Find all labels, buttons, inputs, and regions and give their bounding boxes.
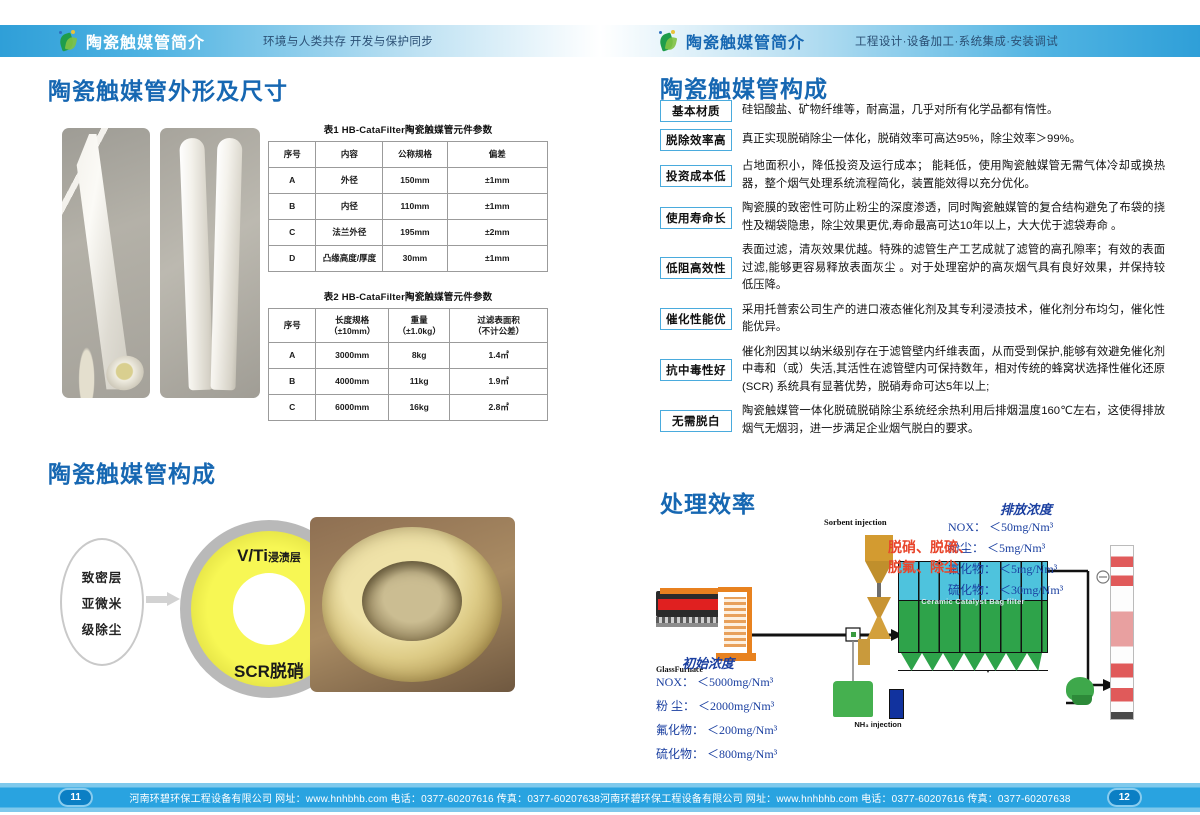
table2-th-3-main: 过滤表面积 [452, 315, 545, 326]
table-row: B 4000mm 11kg 1.9㎡ [269, 369, 548, 395]
feature-item: 投资成本低 占地面积小，降低投资及运行成本； 能耗低，使用陶瓷触媒管无需气体冷却… [660, 158, 1165, 193]
feature-text: 表面过滤，清灰效果优越。特殊的滤管生产工艺成就了滤管的高孔隙率；有效的表面过滤,… [742, 242, 1165, 295]
feature-item: 基本材质 硅铝酸盐、矿物纤维等，耐高温，几乎对所有化学品都有惰性。 [660, 100, 1165, 122]
table2-th-1-sub: （±10mm） [318, 326, 386, 337]
feature-badge: 催化性能优 [660, 308, 732, 330]
table2-r0-c0: A [269, 343, 316, 369]
table1-r2-c1: 法兰外径 [316, 220, 383, 246]
company-leaf-logo-icon [55, 29, 79, 53]
feature-list: 基本材质 硅铝酸盐、矿物纤维等，耐高温，几乎对所有化学品都有惰性。 脱除效率高 … [660, 100, 1165, 445]
structure-ring-diagram: 致密层 亚微米 级除尘 V/Ti浸渍层 SCR脱硝 [60, 520, 310, 700]
footer-bar: 11 河南环碧环保工程设备有限公司 网址：www.hnhbhb.com 电话：0… [0, 780, 1200, 815]
feature-badge: 脱除效率高 [660, 129, 732, 151]
glass-furnace-icon [656, 587, 752, 661]
table1-th-2: 公称规格 [383, 142, 447, 168]
removal-note-line2: 脱氟、除尘 [888, 559, 958, 579]
table-row: C 法兰外径 195mm ±2mm [269, 220, 548, 246]
process-flow-diagram: GlassFurnace Sorbent injection Ceramic C… [648, 525, 1193, 760]
outlet-concentration-title: 排放浓度 [1000, 499, 1052, 518]
table2-th-3: 过滤表面积 （不计公差） [450, 309, 548, 343]
feature-item: 催化性能优 采用托普索公司生产的进口液态催化剂及其专利浸渍技术，催化剂分布均匀，… [660, 302, 1165, 337]
outlet-value-2: 氟化物： ＜5mg/Nm³ [948, 560, 1057, 577]
table1-r0-c2: 150mm [383, 168, 447, 194]
table2-block: 表2 HB-CataFilter陶瓷触媒管元件参数 序号 长度规格 （±10mm… [268, 289, 548, 421]
company-leaf-logo-icon [655, 29, 679, 53]
outlet-value-3: 硫化物： ＜30mg/Nm³ [948, 581, 1063, 598]
left-header-slogan: 环境与人类共存 开发与保护同步 [263, 33, 433, 49]
table1-r3-c0: D [269, 246, 316, 272]
feature-badge: 基本材质 [660, 100, 732, 122]
nh3-injection-label: NH₃ injection [828, 720, 928, 729]
table1-r2-c0: C [269, 220, 316, 246]
table2-r1-c1: 4000mm [316, 369, 389, 395]
table2-th-2-sub: （±1.0kg） [391, 326, 447, 337]
table1-r2-c2: 195mm [383, 220, 447, 246]
table1-r0-c0: A [269, 168, 316, 194]
table1-th-1: 内容 [316, 142, 383, 168]
feature-badge: 投资成本低 [660, 165, 732, 187]
feature-badge: 低阻高效性 [660, 257, 732, 279]
left-page: 陶瓷触媒管简介 环境与人类共存 开发与保护同步 陶瓷触媒管外形及尺寸 表1 HB… [0, 0, 600, 815]
footer-right: 河南环碧环保工程设备有限公司 网址：www.hnhbhb.com 电话：0377… [600, 780, 1200, 815]
table1-r2-c3: ±2mm [447, 220, 547, 246]
table2-r1-c3: 1.9㎡ [450, 369, 548, 395]
right-title-structure: 陶瓷触媒管构成 [660, 70, 828, 104]
feature-item: 抗中毒性好 催化剂因其以纳米级别存在于滤管壁内纤维表面，从而受到保护,能够有效避… [660, 344, 1165, 397]
inlet-value-2: 氟化物： ＜200mg/Nm³ [656, 721, 777, 738]
outlet-value-0: NOX： ＜50mg/Nm³ [948, 518, 1053, 535]
footer-left: 11 河南环碧环保工程设备有限公司 网址：www.hnhbhb.com 电话：0… [0, 780, 600, 815]
table1-r3-c2: 30mm [383, 246, 447, 272]
oval-line-2: 级除尘 [82, 619, 123, 638]
donut-bottom-label: SCR脱硝 [180, 657, 358, 682]
footer-left-text: 河南环碧环保工程设备有限公司 网址：www.hnhbhb.com 电话：0377… [129, 790, 600, 805]
table1-th-0: 序号 [269, 142, 316, 168]
right-title-efficiency: 处理效率 [660, 485, 756, 519]
donut-top-main: V/Ti [237, 546, 268, 565]
inlet-value-0: NOX： ＜5000mg/Nm³ [656, 673, 773, 690]
table2-r2-c1: 6000mm [316, 395, 389, 421]
table2-r0-c1: 3000mm [316, 343, 389, 369]
table1-r0-c1: 外径 [316, 168, 383, 194]
table-row: A 3000mm 8kg 1.4㎡ [269, 343, 548, 369]
table-row: B 内径 110mm ±1mm [269, 194, 548, 220]
table1-r1-c3: ±1mm [447, 194, 547, 220]
table2-r0-c3: 1.4㎡ [450, 343, 548, 369]
donut-top-sub: 浸渍层 [268, 552, 301, 564]
arrow-right-icon [146, 592, 180, 606]
right-header-bar: 陶瓷触媒管简介 工程设计·设备加工·系统集成·安装调试 [600, 25, 1200, 57]
left-header-bar: 陶瓷触媒管简介 环境与人类共存 开发与保护同步 [0, 25, 600, 57]
table2-r2-c0: C [269, 395, 316, 421]
feature-badge: 使用寿命长 [660, 207, 732, 229]
feature-badge: 无需脱白 [660, 410, 732, 432]
bag-filter-label: Ceramic Catalyst Bag filter [898, 597, 1048, 606]
page-number-right: 12 [1109, 790, 1140, 805]
nh3-injection-icon: NH₃ injection [833, 675, 923, 733]
table1-r1-c0: B [269, 194, 316, 220]
feature-text: 采用托普索公司生产的进口液态催化剂及其专利浸渍技术，催化剂分布均匀，催化性能优异… [742, 302, 1165, 337]
feature-text: 催化剂因其以纳米级别存在于滤管壁内纤维表面，从而受到保护,能够有效避免催化剂中毒… [742, 344, 1165, 397]
feature-item: 使用寿命长 陶瓷膜的致密性可防止粉尘的深度渗透，同时陶瓷触媒管的复合结构避免了布… [660, 200, 1165, 235]
oval-line-1: 亚微米 [82, 593, 123, 612]
table2-r1-c2: 11kg [388, 369, 449, 395]
table1: 序号 内容 公称规格 偏差 A 外径 150mm ±1mm B [268, 141, 548, 272]
removal-note-line1: 脱硝、脱硫、 [888, 539, 972, 559]
table-row: D 凸缘高度/厚度 30mm ±1mm [269, 246, 548, 272]
induced-draft-fan-icon [1066, 677, 1100, 707]
brochure-spread: 陶瓷触媒管简介 环境与人类共存 开发与保护同步 陶瓷触媒管外形及尺寸 表1 HB… [0, 0, 1200, 815]
table1-block: 表1 HB-CataFilter陶瓷触媒管元件参数 序号 内容 公称规格 偏差 … [268, 122, 548, 272]
table1-r1-c2: 110mm [383, 194, 447, 220]
feature-item: 低阻高效性 表面过滤，清灰效果优越。特殊的滤管生产工艺成就了滤管的高孔隙率；有效… [660, 242, 1165, 295]
dense-layer-oval: 致密层 亚微米 级除尘 [60, 538, 144, 666]
right-header-slogan: 工程设计·设备加工·系统集成·安装调试 [855, 33, 1058, 49]
table2-th-1-main: 长度规格 [318, 315, 386, 326]
table2-header-row: 序号 长度规格 （±10mm） 重量 （±1.0kg） 过滤表面积 （不计公差） [269, 309, 548, 343]
table-row: A 外径 150mm ±1mm [269, 168, 548, 194]
table1-r0-c3: ±1mm [447, 168, 547, 194]
table1-r3-c3: ±1mm [447, 246, 547, 272]
table2-caption: 表2 HB-CataFilter陶瓷触媒管元件参数 [268, 289, 548, 303]
table1-th-3: 偏差 [447, 142, 547, 168]
inlet-concentration-title: 初始浓度 [682, 653, 734, 672]
table2-th-2: 重量 （±1.0kg） [388, 309, 449, 343]
feature-text: 占地面积小，降低投资及运行成本； 能耗低，使用陶瓷触媒管无需气体冷却或换热器，整… [742, 158, 1165, 193]
table2-r0-c2: 8kg [388, 343, 449, 369]
donut-top-label: V/Ti浸渍层 [180, 546, 358, 566]
left-title-structure: 陶瓷触媒管构成 [48, 455, 216, 489]
table1-header-row: 序号 内容 公称规格 偏差 [269, 142, 548, 168]
feature-text: 硅铝酸盐、矿物纤维等，耐高温，几乎对所有化学品都有惰性。 [742, 102, 1058, 120]
photo-single-ceramic-tube [62, 128, 150, 398]
page-number-left: 11 [60, 790, 91, 805]
table-row: C 6000mm 16kg 2.8㎡ [269, 395, 548, 421]
feature-text: 真正实现脱硝除尘一体化，脱硝效率可高达95%，除尘效率＞99%。 [742, 131, 1081, 149]
table2-th-1: 长度规格 （±10mm） [316, 309, 389, 343]
table2-th-3-sub: （不计公差） [452, 326, 545, 337]
chimney-stack-icon [1110, 545, 1134, 720]
table1-r3-c1: 凸缘高度/厚度 [316, 246, 383, 272]
feature-text: 陶瓷触媒管一体化脱硫脱硝除尘系统经余热利用后排烟温度160℃左右，这使得排放烟气… [742, 403, 1165, 438]
table2-th-2-main: 重量 [391, 315, 447, 326]
footer-right-text: 河南环碧环保工程设备有限公司 网址：www.hnhbhb.com 电话：0377… [600, 790, 1071, 805]
feature-item: 无需脱白 陶瓷触媒管一体化脱硫脱硝除尘系统经余热利用后排烟温度160℃左右，这使… [660, 403, 1165, 438]
inlet-value-1: 粉 尘： ＜2000mg/Nm³ [656, 697, 774, 714]
sorbent-injection-label: Sorbent injection [824, 517, 887, 527]
oval-line-0: 致密层 [82, 567, 123, 586]
table2-r2-c2: 16kg [388, 395, 449, 421]
feature-badge: 抗中毒性好 [660, 359, 732, 381]
feature-item: 脱除效率高 真正实现脱硝除尘一体化，脱硝效率可高达95%，除尘效率＞99%。 [660, 129, 1165, 151]
feature-text: 陶瓷膜的致密性可防止粉尘的深度渗透，同时陶瓷触媒管的复合结构避免了布袋的挠性及糊… [742, 200, 1165, 235]
left-title-dimensions: 陶瓷触媒管外形及尺寸 [48, 72, 288, 106]
photo-two-ceramic-tubes [160, 128, 260, 398]
right-header-brand: 陶瓷触媒管简介 [686, 29, 805, 53]
table1-caption: 表1 HB-CataFilter陶瓷触媒管元件参数 [268, 122, 548, 136]
table2-r2-c3: 2.8㎡ [450, 395, 548, 421]
inlet-value-3: 硫化物： ＜800mg/Nm³ [656, 745, 777, 762]
table2: 序号 长度规格 （±10mm） 重量 （±1.0kg） 过滤表面积 （不计公差） [268, 308, 548, 421]
table2-r1-c0: B [269, 369, 316, 395]
table1-r1-c1: 内径 [316, 194, 383, 220]
left-header-brand: 陶瓷触媒管简介 [86, 29, 205, 53]
table2-th-0: 序号 [269, 309, 316, 343]
